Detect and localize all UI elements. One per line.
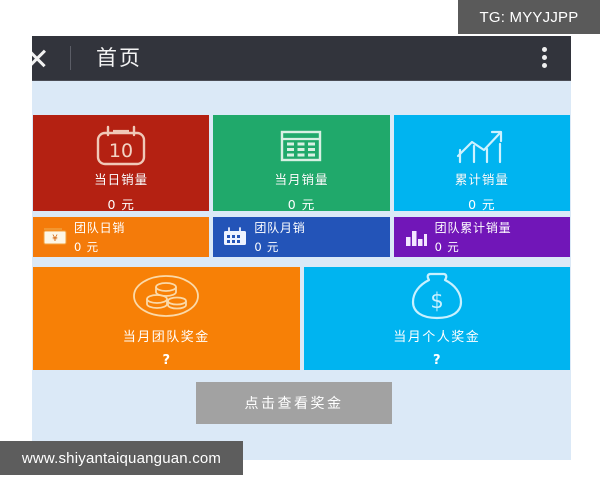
- svg-text:10: 10: [109, 140, 133, 162]
- stat-label: 团队日销: [74, 219, 125, 236]
- app-window: 首页 10: [32, 36, 571, 460]
- stat-label: 当日销量: [94, 169, 148, 188]
- site-watermark: www.shiyantaiquanguan.com: [0, 441, 243, 475]
- coin-stack-circle-icon: [123, 270, 209, 324]
- stat-tile-team-daily[interactable]: ¥ 团队日销 0 元: [33, 217, 209, 257]
- stat-tile-monthly-sales[interactable]: 当月销量 0 元: [213, 115, 389, 211]
- header-divider: [70, 46, 71, 70]
- stat-value: 0 元: [435, 239, 512, 255]
- bonus-value: ?: [162, 353, 170, 368]
- overflow-menu-icon[interactable]: [542, 47, 547, 69]
- stat-value: 0 元: [74, 239, 125, 255]
- stat-tile-team-total[interactable]: 团队累计销量 0 元: [394, 217, 570, 257]
- bonus-tile-personal[interactable]: $ 当月个人奖金 ?: [304, 267, 571, 370]
- stat-label: 当月销量: [274, 169, 328, 188]
- calendar-month-icon: [276, 124, 326, 168]
- telegram-watermark: TG: MYYJJPP: [458, 0, 600, 34]
- stat-tile-team-monthly[interactable]: 团队月销 0 元: [213, 217, 389, 257]
- bonus-value: ?: [433, 353, 441, 368]
- svg-text:$: $: [430, 289, 443, 313]
- stat-value: 0 元: [468, 194, 495, 213]
- calendar-day-icon: 10: [93, 124, 149, 168]
- dashboard-content: 10 当日销量 0 元: [32, 81, 571, 460]
- team-stats-row: ¥ 团队日销 0 元: [33, 217, 570, 257]
- stat-value: 0 元: [107, 194, 134, 213]
- page-title: 首页: [96, 44, 142, 72]
- primary-stats-row: 10 当日销量 0 元: [33, 115, 570, 211]
- stat-value: 0 元: [254, 239, 305, 255]
- money-bill-icon: ¥: [42, 224, 68, 250]
- stat-tile-total-sales[interactable]: 累计销量 0 元: [394, 115, 570, 211]
- view-bonus-button[interactable]: 点击查看奖金: [196, 382, 392, 424]
- stat-value: 0 元: [288, 194, 315, 213]
- money-bag-icon: $: [402, 270, 472, 324]
- calendar-small-icon: [222, 224, 248, 250]
- bonus-row: 当月团队奖金 ? $ 当月个人奖金 ?: [33, 267, 570, 370]
- bar-chart-icon: [403, 224, 429, 250]
- stat-label: 团队月销: [254, 219, 305, 236]
- stat-label: 累计销量: [455, 169, 509, 188]
- bonus-label: 当月团队奖金: [123, 326, 210, 345]
- stat-tile-daily-sales[interactable]: 10 当日销量 0 元: [33, 115, 209, 211]
- close-icon[interactable]: [32, 47, 48, 69]
- app-header-bar: 首页: [32, 36, 571, 81]
- svg-text:¥: ¥: [52, 234, 58, 244]
- bonus-tile-team[interactable]: 当月团队奖金 ?: [33, 267, 300, 370]
- bonus-label: 当月个人奖金: [393, 326, 480, 345]
- stat-label: 团队累计销量: [435, 219, 512, 236]
- screen-root: 首页 10: [0, 0, 600, 480]
- trending-up-chart-icon: [451, 124, 513, 168]
